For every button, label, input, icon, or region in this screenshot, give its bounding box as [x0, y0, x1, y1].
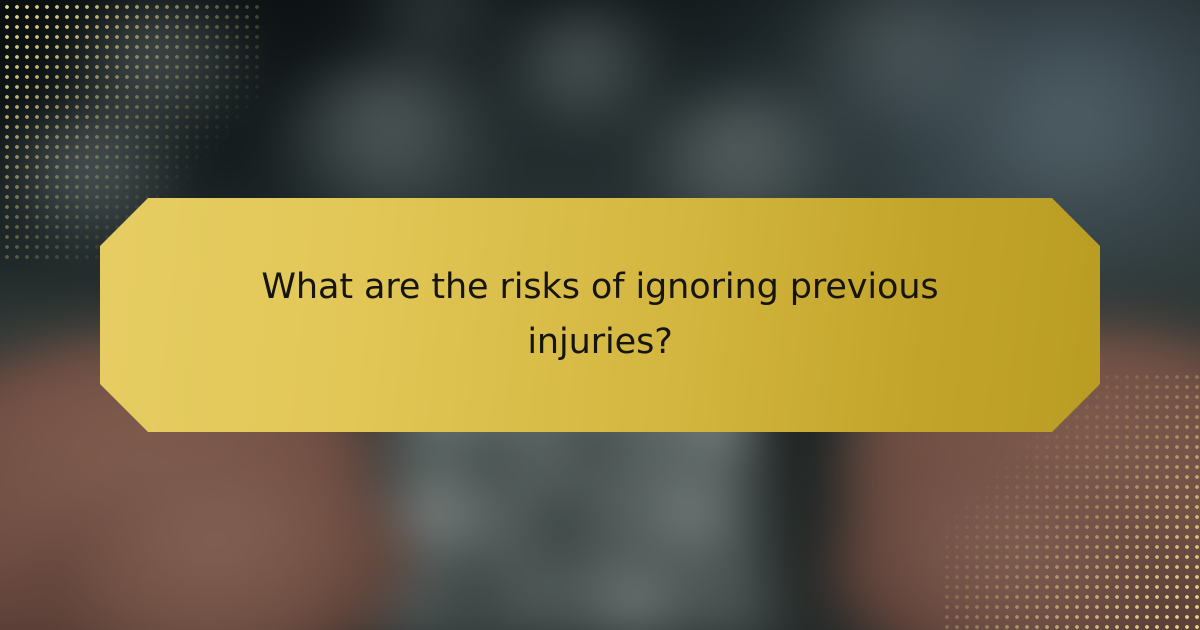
headline-banner: What are the risks of ignoring previous …: [100, 198, 1100, 432]
social-share-card: What are the risks of ignoring previous …: [0, 0, 1200, 630]
page-title: What are the risks of ignoring previous …: [100, 260, 1100, 371]
